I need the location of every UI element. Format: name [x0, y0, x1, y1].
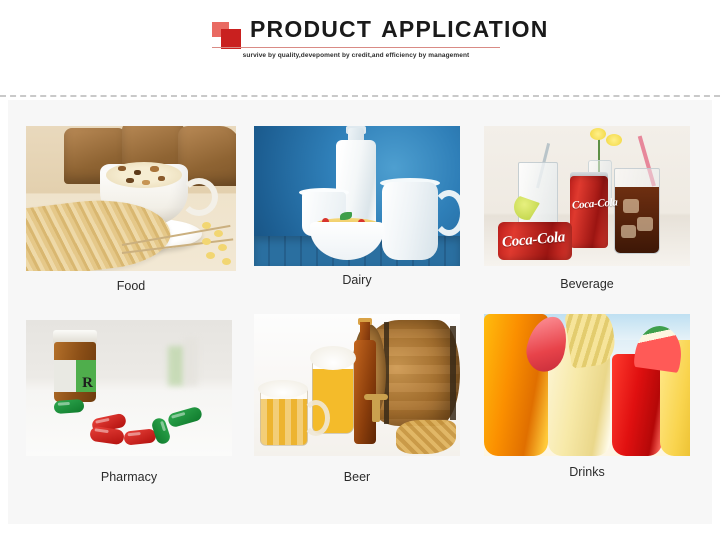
gallery-item-dairy[interactable] [254, 126, 460, 266]
background-blur-shape [168, 346, 184, 386]
yellow-flower [590, 128, 606, 140]
logo-square-front [221, 29, 241, 49]
gallery-label-food: Food [26, 279, 236, 293]
corn-kernel [214, 230, 223, 237]
gallery-label-beverage: Beverage [484, 277, 690, 291]
corn-kernel [202, 222, 211, 229]
corn-kernel [222, 258, 231, 265]
barley-grain [396, 420, 456, 454]
muesli-piece [150, 166, 159, 172]
ice-cube [637, 217, 653, 231]
gallery-item-pharmacy[interactable]: R [26, 320, 232, 456]
cola-glass [614, 168, 660, 254]
muesli-piece [134, 170, 141, 175]
ice-cube [623, 199, 639, 213]
corn-kernel [206, 252, 215, 259]
beer-foam [258, 380, 308, 398]
rx-symbol: R [82, 375, 93, 392]
gallery-label-beer: Beer [254, 470, 460, 484]
page-title-word-application: APPLICATION [381, 16, 548, 42]
corn-kernel [218, 244, 227, 251]
barrel-hoop [450, 326, 456, 420]
gallery-item-beer[interactable] [254, 314, 460, 456]
gallery-item-beverage[interactable]: Coca-Cola Coca-Cola [484, 126, 690, 266]
muesli-piece [126, 178, 134, 183]
brand-logo-block: PRODUCTAPPLICATION survive by quality,de… [208, 16, 508, 76]
gallery-item-food[interactable] [26, 126, 236, 271]
beer-foam [310, 346, 356, 370]
background-blur-shape [184, 338, 198, 386]
title-underline-rule [212, 47, 500, 48]
header-dashed-divider [0, 95, 720, 97]
muesli-piece [142, 180, 150, 185]
product-application-panel: Food Dairy [8, 100, 712, 524]
page-header: PRODUCTAPPLICATION survive by quality,de… [0, 0, 720, 96]
beverage-thumbnail-image[interactable]: Coca-Cola Coca-Cola [484, 126, 690, 266]
pharmacy-thumbnail-image[interactable]: R [26, 320, 232, 456]
mug-handle [302, 400, 330, 436]
dairy-thumbnail-image[interactable] [254, 126, 460, 266]
cup-handle [180, 178, 218, 216]
two-red-squares-logo-icon [212, 22, 246, 50]
corn-kernel [202, 238, 211, 245]
muesli-piece [118, 166, 126, 171]
ice-cube [621, 225, 636, 238]
brand-tagline: survive by quality,devepoment by credit,… [212, 52, 500, 59]
gallery-item-drinks[interactable] [484, 314, 690, 456]
beer-thumbnail-image[interactable] [254, 314, 460, 456]
food-thumbnail-image[interactable] [26, 126, 236, 271]
yellow-flower [606, 134, 622, 146]
barrel-tap [372, 396, 380, 422]
prescription-label: R [54, 360, 96, 392]
green-capsule [54, 399, 85, 414]
muesli-piece [158, 176, 165, 181]
gallery-label-drinks: Drinks [484, 465, 690, 479]
coca-cola-can-upright [570, 176, 608, 248]
beer-bottle [354, 340, 376, 444]
drinks-thumbnail-image[interactable] [484, 314, 690, 456]
page-title: PRODUCTAPPLICATION [250, 16, 549, 43]
gallery-label-pharmacy: Pharmacy [26, 470, 232, 484]
milk-jug [382, 182, 438, 260]
gallery-label-dairy: Dairy [254, 273, 460, 287]
jug-handle [432, 190, 460, 236]
page-title-word-product: PRODUCT [250, 16, 372, 42]
